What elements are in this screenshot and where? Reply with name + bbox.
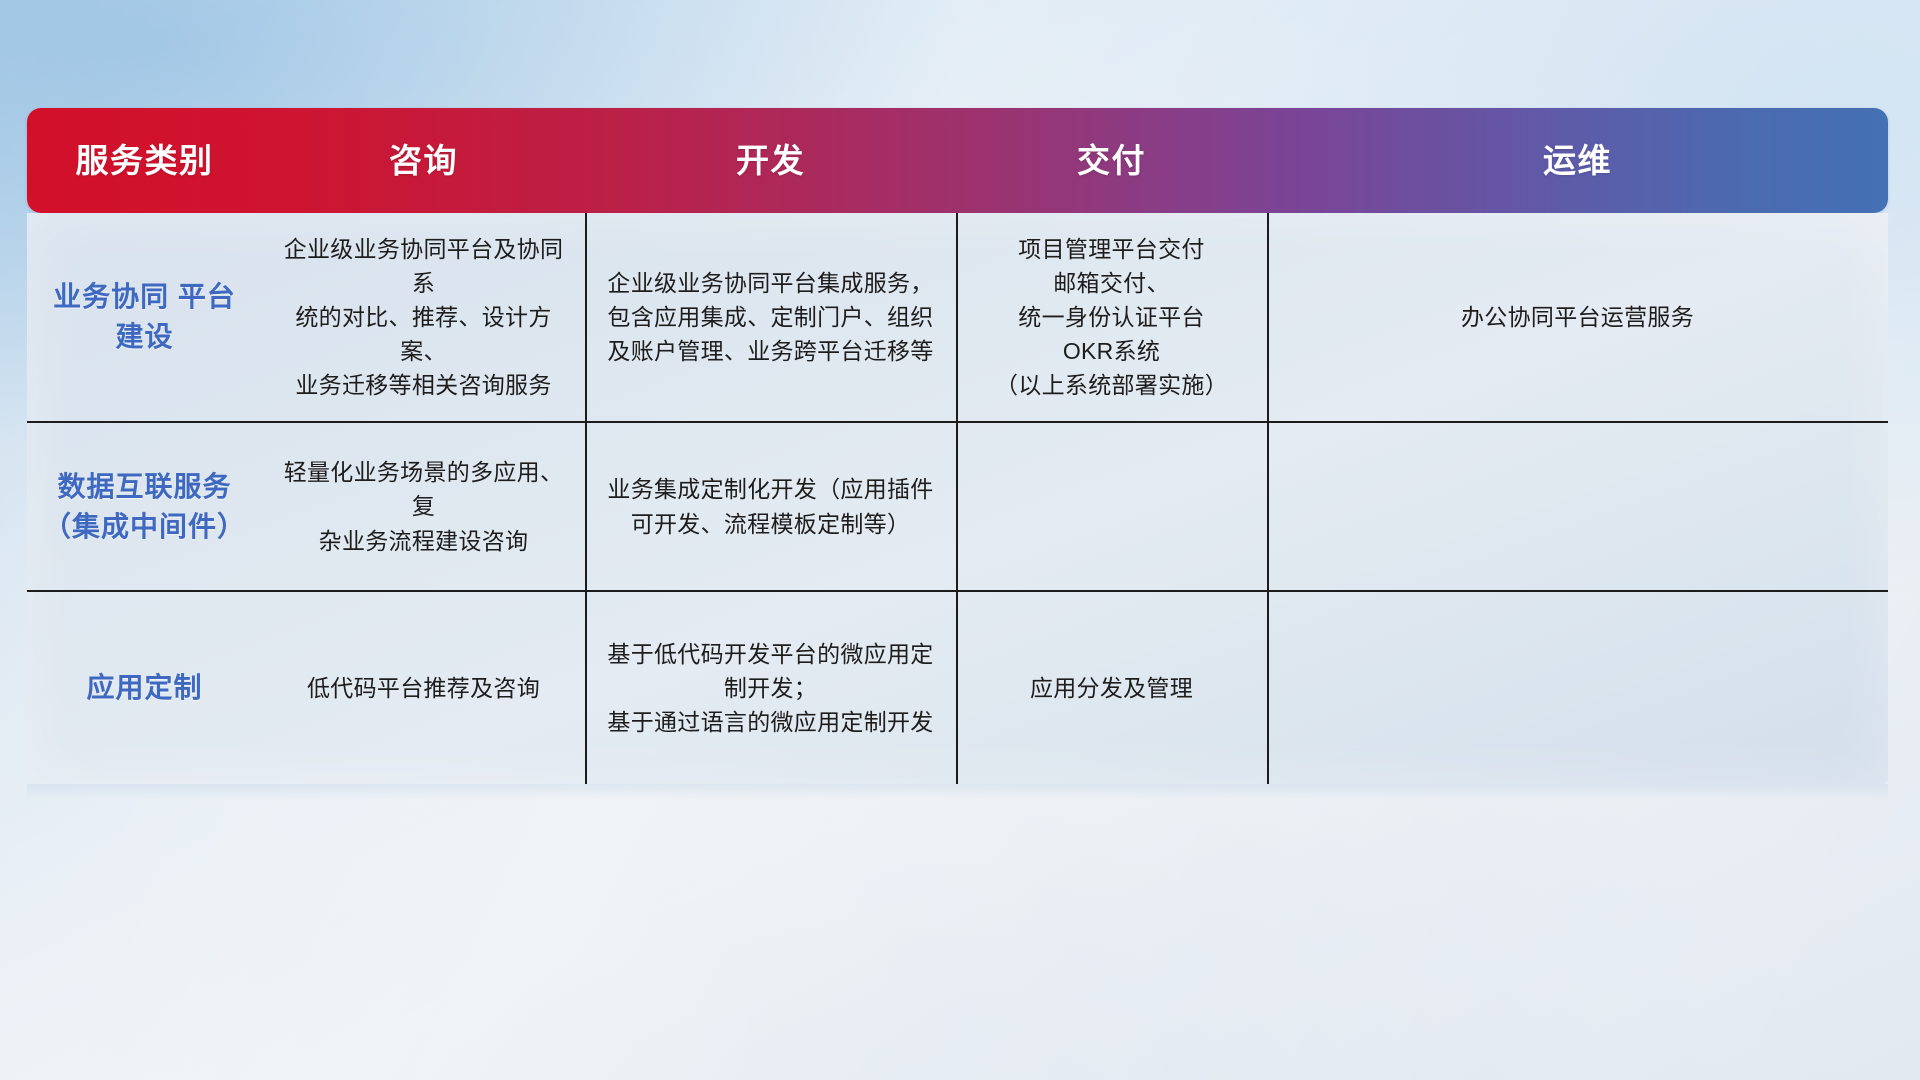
row-label-text: 业务协同 平台建设 [41, 277, 248, 357]
service-category-table: 服务类别 咨询 开发 交付 运维 业务协同 平台建设 企业级业务协同平台及协同系… [27, 108, 1888, 951]
cell-development: 业务集成定制化开发（应用插件 可开发、流程模板定制等） [585, 423, 956, 590]
table-row: 应用定制 低代码平台推荐及咨询 基于低代码开发平台的微应用定 制开发； 基于通过… [27, 590, 1888, 784]
cell-consulting: 轻量化业务场景的多应用、复 杂业务流程建设咨询 [262, 423, 585, 590]
cell-text: 基于低代码开发平台的微应用定 制开发； 基于通过语言的微应用定制开发 [607, 637, 933, 739]
cell-text: 企业级业务协同平台集成服务， 包含应用集成、定制门户、组织 及账户管理、业务跨平… [607, 266, 933, 368]
row-label-cell: 应用定制 [27, 592, 262, 784]
slide-background: 服务类别 咨询 开发 交付 运维 业务协同 平台建设 企业级业务协同平台及协同系… [0, 0, 1920, 1080]
table-body: 业务协同 平台建设 企业级业务协同平台及协同系 统的对比、推荐、设计方案、 业务… [27, 213, 1888, 784]
row-label-text: 数据互联服务 （集成中间件） [41, 467, 248, 547]
header-cell-development: 开发 [585, 144, 956, 177]
table-row: 数据互联服务 （集成中间件） 轻量化业务场景的多应用、复 杂业务流程建设咨询 业… [27, 421, 1888, 590]
table-header-row: 服务类别 咨询 开发 交付 运维 [27, 108, 1888, 213]
header-label-category: 服务类别 [76, 144, 214, 177]
cell-text: 应用分发及管理 [1030, 671, 1193, 705]
cell-text: 企业级业务协同平台及协同系 统的对比、推荐、设计方案、 业务迁移等相关咨询服务 [276, 232, 571, 402]
header-label-operations: 运维 [1543, 144, 1612, 177]
row-label-text: 应用定制 [86, 668, 202, 708]
cell-consulting: 低代码平台推荐及咨询 [262, 592, 585, 784]
cell-consulting: 企业级业务协同平台及协同系 统的对比、推荐、设计方案、 业务迁移等相关咨询服务 [262, 213, 585, 421]
header-cell-delivery: 交付 [956, 144, 1267, 177]
cell-operations [1267, 423, 1888, 590]
cell-operations [1267, 592, 1888, 784]
header-label-development: 开发 [736, 144, 805, 177]
cell-text: 业务集成定制化开发（应用插件 可开发、流程模板定制等） [607, 472, 933, 540]
header-label-delivery: 交付 [1077, 144, 1146, 177]
table-row: 业务协同 平台建设 企业级业务协同平台及协同系 统的对比、推荐、设计方案、 业务… [27, 213, 1888, 421]
cell-operations: 办公协同平台运营服务 [1267, 213, 1888, 421]
row-label-cell: 业务协同 平台建设 [27, 213, 262, 421]
header-cell-consulting: 咨询 [262, 144, 585, 177]
cell-development: 企业级业务协同平台集成服务， 包含应用集成、定制门户、组织 及账户管理、业务跨平… [585, 213, 956, 421]
cell-text: 低代码平台推荐及咨询 [307, 671, 540, 705]
cell-text: 轻量化业务场景的多应用、复 杂业务流程建设咨询 [276, 455, 571, 557]
cell-delivery [956, 423, 1267, 590]
cell-text: 办公协同平台运营服务 [1461, 300, 1694, 334]
header-label-consulting: 咨询 [389, 144, 458, 177]
cell-delivery: 应用分发及管理 [956, 592, 1267, 784]
header-cell-category: 服务类别 [27, 144, 262, 177]
header-cell-operations: 运维 [1267, 144, 1888, 177]
cell-text: 项目管理平台交付 邮箱交付、 统一身份认证平台 OKR系统 （以上系统部署实施） [995, 232, 1228, 402]
cell-delivery: 项目管理平台交付 邮箱交付、 统一身份认证平台 OKR系统 （以上系统部署实施） [956, 213, 1267, 421]
row-label-cell: 数据互联服务 （集成中间件） [27, 423, 262, 590]
cell-development: 基于低代码开发平台的微应用定 制开发； 基于通过语言的微应用定制开发 [585, 592, 956, 784]
